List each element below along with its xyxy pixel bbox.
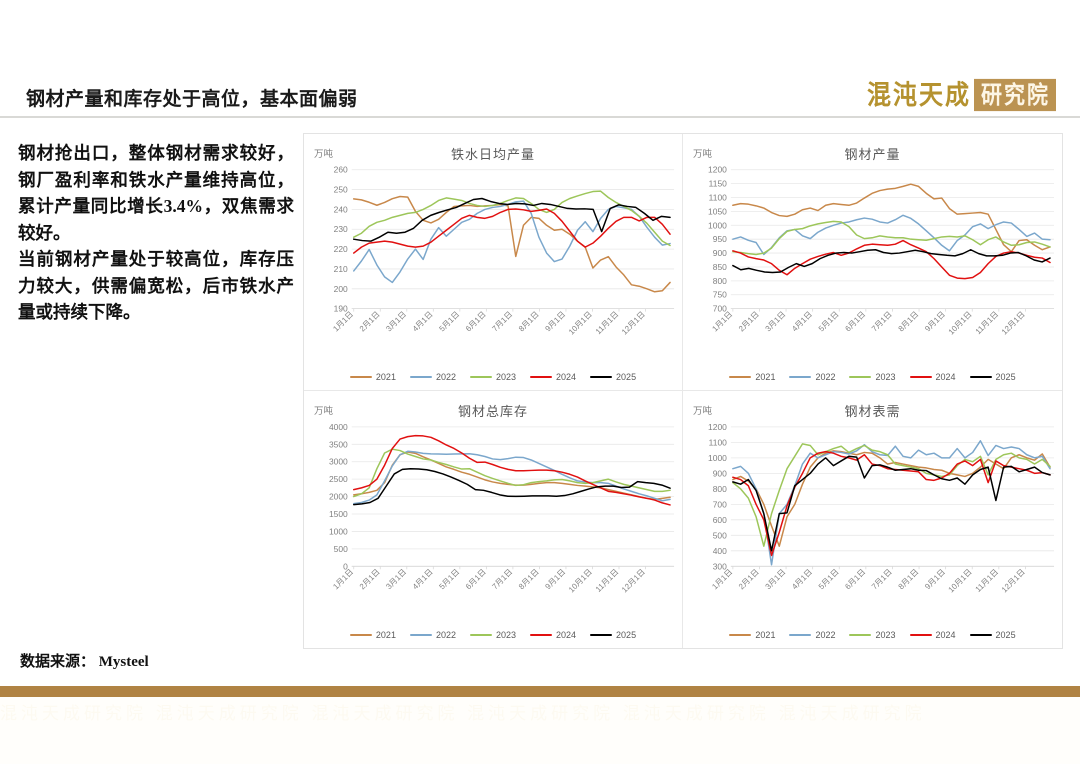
- chart-legend-1: 20212022202320242025: [683, 372, 1062, 382]
- legend-label-2022: 2022: [815, 630, 835, 640]
- legend-item-2022[interactable]: 2022: [410, 630, 456, 640]
- legend-swatch-2025: [590, 634, 612, 637]
- legend-swatch-2022: [789, 634, 811, 637]
- legend-label-2025: 2025: [616, 372, 636, 382]
- legend-item-2024[interactable]: 2024: [910, 372, 956, 382]
- svg-text:7月1日: 7月1日: [870, 310, 894, 334]
- svg-text:12月1日: 12月1日: [1000, 310, 1027, 337]
- svg-text:11月1日: 11月1日: [594, 310, 621, 337]
- legend-item-2024[interactable]: 2024: [530, 372, 576, 382]
- legend-label-2024: 2024: [936, 630, 956, 640]
- legend-label-2025: 2025: [616, 630, 636, 640]
- legend-label-2021: 2021: [755, 372, 775, 382]
- svg-text:6月1日: 6月1日: [843, 310, 867, 334]
- svg-text:8月1日: 8月1日: [517, 567, 541, 591]
- watermark-text: 混沌天成研究院 混沌天成研究院 混沌天成研究院 混沌天成研究院 混沌天成研究院 …: [0, 699, 1080, 724]
- svg-text:3月1日: 3月1日: [764, 310, 788, 334]
- series-line-2022: [733, 215, 1050, 254]
- legend-label-2023: 2023: [875, 372, 895, 382]
- svg-text:1050: 1050: [708, 206, 727, 216]
- chart-panel-steel-output: 万吨 钢材产量 70075080085090095010001050110011…: [683, 134, 1062, 391]
- commentary-paragraph-2: 当前钢材产量处于较高位，库存压力较大，供需偏宽松，后市铁水产量或持续下降。: [18, 246, 294, 326]
- chart-plot-2: 050010001500200025003000350040001月1日2月1日…: [304, 391, 682, 648]
- svg-text:12月1日: 12月1日: [620, 567, 647, 594]
- legend-label-2021: 2021: [755, 630, 775, 640]
- svg-text:750: 750: [713, 290, 727, 300]
- svg-text:1200: 1200: [708, 422, 727, 432]
- svg-text:210: 210: [334, 264, 348, 274]
- svg-text:4月1日: 4月1日: [411, 567, 435, 591]
- svg-text:3月1日: 3月1日: [384, 567, 408, 591]
- legend-item-2021[interactable]: 2021: [729, 372, 775, 382]
- svg-text:500: 500: [334, 544, 348, 554]
- legend-swatch-2024: [910, 376, 932, 379]
- legend-swatch-2023: [470, 376, 492, 379]
- brand-logo: 混沌天成 研究院: [867, 78, 1056, 112]
- title-divider: [0, 116, 1080, 118]
- svg-text:900: 900: [713, 248, 727, 258]
- svg-text:7月1日: 7月1日: [490, 310, 514, 334]
- chart-grid: 万吨 铁水日均产量 1902002102202302402502601月1日2月…: [303, 133, 1063, 649]
- chart-legend-0: 20212022202320242025: [304, 372, 682, 382]
- svg-text:900: 900: [713, 468, 727, 478]
- logo-seal-badge: 研究院: [974, 79, 1056, 111]
- legend-label-2025: 2025: [996, 372, 1016, 382]
- chart-panel-steel-inventory: 万吨 钢材总库存 0500100015002000250030003500400…: [304, 391, 683, 648]
- legend-item-2025[interactable]: 2025: [970, 372, 1016, 382]
- legend-label-2022: 2022: [436, 372, 456, 382]
- svg-text:2月1日: 2月1日: [737, 567, 761, 591]
- svg-text:200: 200: [334, 284, 348, 294]
- legend-swatch-2022: [410, 634, 432, 637]
- svg-text:6月1日: 6月1日: [464, 567, 488, 591]
- svg-text:10月1日: 10月1日: [567, 567, 594, 594]
- legend-item-2021[interactable]: 2021: [350, 372, 396, 382]
- legend-label-2023: 2023: [875, 630, 895, 640]
- svg-text:3500: 3500: [329, 439, 348, 449]
- svg-text:500: 500: [713, 530, 727, 540]
- legend-swatch-2023: [849, 634, 871, 637]
- series-line-2025: [733, 456, 1050, 551]
- svg-text:250: 250: [334, 185, 348, 195]
- svg-text:260: 260: [334, 165, 348, 175]
- page-title: 钢材产量和库存处于高位，基本面偏弱: [26, 84, 358, 111]
- legend-swatch-2021: [729, 376, 751, 379]
- legend-swatch-2023: [470, 634, 492, 637]
- chart-panel-iron-output: 万吨 铁水日均产量 1902002102202302402502601月1日2月…: [304, 134, 683, 391]
- svg-text:4月1日: 4月1日: [411, 310, 435, 334]
- svg-text:9月1日: 9月1日: [923, 567, 947, 591]
- legend-swatch-2023: [849, 376, 871, 379]
- legend-item-2022[interactable]: 2022: [410, 372, 456, 382]
- legend-swatch-2022: [789, 376, 811, 379]
- legend-item-2022[interactable]: 2022: [789, 630, 835, 640]
- svg-text:2月1日: 2月1日: [358, 567, 382, 591]
- svg-text:9月1日: 9月1日: [544, 567, 568, 591]
- legend-label-2024: 2024: [556, 372, 576, 382]
- svg-text:3000: 3000: [329, 457, 348, 467]
- svg-text:850: 850: [713, 262, 727, 272]
- svg-text:4月1日: 4月1日: [790, 567, 814, 591]
- legend-label-2023: 2023: [496, 630, 516, 640]
- legend-item-2021[interactable]: 2021: [729, 630, 775, 640]
- svg-text:800: 800: [713, 484, 727, 494]
- chart-plot-1: 700750800850900950100010501100115012001月…: [683, 134, 1062, 390]
- svg-text:700: 700: [713, 499, 727, 509]
- svg-text:800: 800: [713, 276, 727, 286]
- svg-text:8月1日: 8月1日: [897, 310, 921, 334]
- svg-text:5月1日: 5月1日: [437, 567, 461, 591]
- svg-text:5月1日: 5月1日: [817, 567, 841, 591]
- legend-item-2023[interactable]: 2023: [470, 372, 516, 382]
- svg-text:220: 220: [334, 244, 348, 254]
- legend-label-2024: 2024: [556, 630, 576, 640]
- chart-plot-3: 3004005006007008009001000110012001月1日2月1…: [683, 391, 1062, 648]
- legend-swatch-2025: [590, 376, 612, 379]
- series-line-2022: [354, 201, 670, 282]
- svg-text:10月1日: 10月1日: [567, 310, 594, 337]
- legend-item-2023[interactable]: 2023: [470, 630, 516, 640]
- svg-text:2月1日: 2月1日: [358, 310, 382, 334]
- legend-label-2022: 2022: [815, 372, 835, 382]
- legend-item-2025[interactable]: 2025: [590, 372, 636, 382]
- svg-text:1000: 1000: [708, 220, 727, 230]
- svg-text:2000: 2000: [329, 492, 348, 502]
- series-line-2023: [354, 449, 670, 496]
- legend-item-2023[interactable]: 2023: [849, 372, 895, 382]
- chart-legend-3: 20212022202320242025: [683, 630, 1062, 640]
- svg-text:3月1日: 3月1日: [384, 310, 408, 334]
- svg-text:8月1日: 8月1日: [517, 310, 541, 334]
- series-line-2023: [733, 221, 1050, 254]
- svg-text:8月1日: 8月1日: [897, 567, 921, 591]
- legend-label-2023: 2023: [496, 372, 516, 382]
- svg-text:9月1日: 9月1日: [923, 310, 947, 334]
- legend-swatch-2024: [530, 634, 552, 637]
- svg-text:230: 230: [334, 224, 348, 234]
- svg-text:5月1日: 5月1日: [437, 310, 461, 334]
- svg-text:1500: 1500: [329, 509, 348, 519]
- svg-text:2500: 2500: [329, 474, 348, 484]
- svg-text:1150: 1150: [709, 179, 727, 189]
- svg-text:6月1日: 6月1日: [843, 567, 867, 591]
- chart-plot-0: 1902002102202302402502601月1日2月1日3月1日4月1日…: [304, 134, 682, 390]
- svg-text:11月1日: 11月1日: [594, 567, 621, 594]
- svg-text:600: 600: [713, 515, 727, 525]
- svg-text:1000: 1000: [329, 526, 348, 536]
- svg-text:10月1日: 10月1日: [947, 310, 974, 337]
- svg-text:10月1日: 10月1日: [947, 567, 974, 594]
- source-note: 数据来源： Mysteel: [20, 650, 149, 671]
- legend-swatch-2024: [910, 634, 932, 637]
- svg-text:5月1日: 5月1日: [817, 310, 841, 334]
- svg-text:1100: 1100: [709, 437, 728, 447]
- legend-item-2023[interactable]: 2023: [849, 630, 895, 640]
- legend-item-2024[interactable]: 2024: [530, 630, 576, 640]
- svg-text:9月1日: 9月1日: [543, 310, 567, 334]
- svg-text:240: 240: [334, 204, 348, 214]
- legend-label-2021: 2021: [376, 630, 396, 640]
- svg-text:7月1日: 7月1日: [490, 567, 514, 591]
- svg-text:1200: 1200: [708, 165, 727, 175]
- svg-text:400: 400: [713, 546, 727, 556]
- svg-text:4月1日: 4月1日: [790, 310, 814, 334]
- svg-text:3月1日: 3月1日: [764, 567, 788, 591]
- series-line-2025: [354, 469, 670, 505]
- legend-swatch-2021: [350, 376, 372, 379]
- logo-brand-text: 混沌天成: [867, 82, 971, 109]
- footer-watermark: 混沌天成研究院 混沌天成研究院 混沌天成研究院 混沌天成研究院 混沌天成研究院 …: [0, 697, 1080, 764]
- legend-label-2025: 2025: [996, 630, 1016, 640]
- legend-label-2024: 2024: [936, 372, 956, 382]
- svg-text:12月1日: 12月1日: [620, 310, 647, 337]
- legend-swatch-2021: [350, 634, 372, 637]
- legend-item-2025[interactable]: 2025: [970, 630, 1016, 640]
- legend-swatch-2025: [970, 634, 992, 637]
- svg-text:4000: 4000: [329, 422, 348, 432]
- legend-swatch-2022: [410, 376, 432, 379]
- chart-legend-2: 20212022202320242025: [304, 630, 682, 640]
- legend-item-2021[interactable]: 2021: [350, 630, 396, 640]
- svg-text:1000: 1000: [708, 453, 727, 463]
- svg-text:12月1日: 12月1日: [1000, 567, 1027, 594]
- footer-gold-bar: [0, 686, 1080, 697]
- svg-text:950: 950: [713, 234, 727, 244]
- legend-item-2022[interactable]: 2022: [789, 372, 835, 382]
- legend-label-2022: 2022: [436, 630, 456, 640]
- svg-text:1100: 1100: [709, 193, 727, 203]
- legend-swatch-2021: [729, 634, 751, 637]
- series-line-2024: [733, 241, 1050, 279]
- commentary-text: 钢材抢出口，整体钢材需求较好，钢厂盈利率和铁水产量维持高位，累计产量同比增长3.…: [18, 140, 294, 326]
- legend-item-2025[interactable]: 2025: [590, 630, 636, 640]
- chart-panel-steel-demand: 万吨 钢材表需 30040050060070080090010001100120…: [683, 391, 1062, 648]
- svg-text:2月1日: 2月1日: [737, 310, 761, 334]
- legend-swatch-2025: [970, 376, 992, 379]
- svg-text:11月1日: 11月1日: [974, 310, 1001, 336]
- legend-label-2021: 2021: [376, 372, 396, 382]
- svg-text:11月1日: 11月1日: [974, 567, 1001, 594]
- commentary-paragraph-1: 钢材抢出口，整体钢材需求较好，钢厂盈利率和铁水产量维持高位，累计产量同比增长3.…: [18, 140, 294, 246]
- legend-item-2024[interactable]: 2024: [910, 630, 956, 640]
- legend-swatch-2024: [530, 376, 552, 379]
- svg-text:7月1日: 7月1日: [870, 567, 894, 591]
- series-line-2021: [354, 452, 670, 499]
- svg-text:6月1日: 6月1日: [464, 310, 488, 334]
